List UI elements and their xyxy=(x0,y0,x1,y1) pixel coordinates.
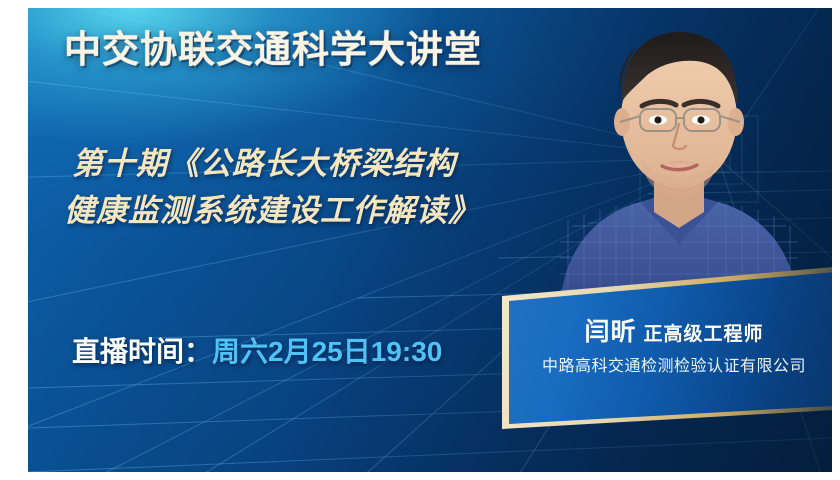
speaker-title: 正高级工程师 xyxy=(644,324,764,345)
subtitle-line-1: 第十期《公路长大桥梁结构 xyxy=(72,146,456,181)
subtitle-line-2: 健康监测系统建设工作解读》 xyxy=(64,187,480,234)
speaker-name: 闫昕 xyxy=(584,318,636,346)
poster-canvas: 中交协联交通科学大讲堂 第十期《公路长大桥梁结构 健康监测系统建设工作解读》 直… xyxy=(28,8,832,472)
speaker-name-row: 闫昕正高级工程师 xyxy=(498,312,832,348)
page-title: 中交协联交通科学大讲堂 xyxy=(64,30,482,69)
speaker-info-panel: 闫昕正高级工程师 中路高科交通检测检验认证有限公司 xyxy=(498,264,832,429)
speaker-organization: 中路高科交通检测检验认证有限公司 xyxy=(498,352,832,376)
broadcast-time-label: 直播时间： xyxy=(72,336,212,367)
speaker-portrait-photo xyxy=(554,8,804,306)
broadcast-time: 直播时间：周六2月25日19:30 xyxy=(72,338,442,366)
live-webinar-poster: 中交协联交通科学大讲堂 第十期《公路长大桥梁结构 健康监测系统建设工作解读》 直… xyxy=(0,0,840,480)
session-subtitle: 第十期《公路长大桥梁结构 健康监测系统建设工作解读》 xyxy=(72,140,480,234)
broadcast-time-value: 周六2月25日19:30 xyxy=(212,336,442,367)
